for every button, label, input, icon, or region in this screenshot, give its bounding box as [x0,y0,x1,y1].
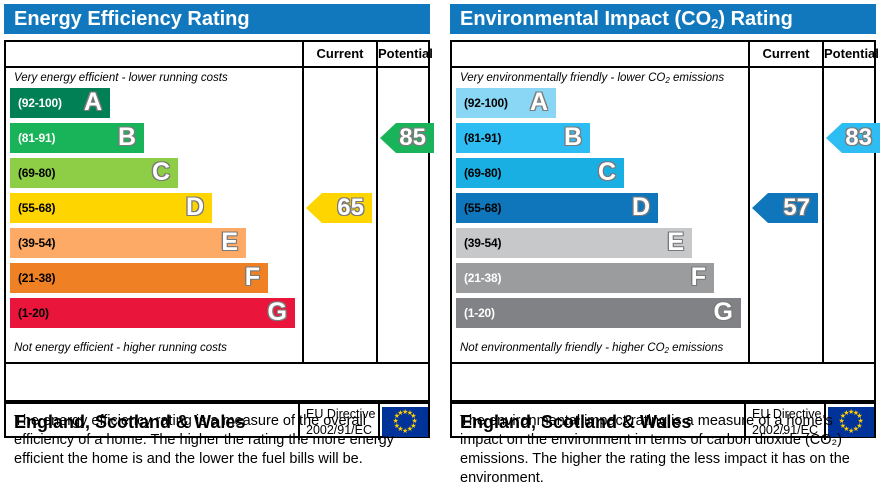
environmental-impact-grid: Current Potential Very environmentally f… [450,40,876,402]
energy-bottom-caption: Not energy efficient - higher running co… [14,338,300,358]
footer-divider-line [452,362,874,364]
environmental-bottom-caption: Not environmentally friendly - higher CO… [460,338,746,358]
potential-column-divider [822,42,824,362]
energy-top-caption: Very energy efficient - lower running co… [14,68,300,88]
band-letter-g: G [714,300,733,325]
band-range-f: (21-38) [464,271,501,285]
band-range-e: (39-54) [464,236,501,250]
env-bottom-caption-prefix: Not environmentally friendly - higher CO [460,342,665,354]
environmental-band-bars: (92-100)A(81-91)B(69-80)C(55-68)D(39-54)… [452,88,748,338]
band-letter-f: F [245,265,260,290]
band-row-c: (69-80)C [10,158,178,188]
band-range-g: (1-20) [464,306,495,320]
band-row-f: (21-38)F [10,263,268,293]
current-rating-arrow: 65 [306,193,372,223]
env-top-caption-sub: 2 [665,76,669,85]
band-range-b: (81-91) [18,131,55,145]
env-bottom-caption-sub: 2 [665,346,669,355]
potential-rating-arrow: 83 [826,123,880,153]
band-letter-c: C [598,160,616,185]
band-letter-d: D [632,195,650,220]
energy-efficiency-panel: Energy Efficiency Rating Current Potenti… [0,0,434,493]
band-row-b: (81-91)B [456,123,590,153]
band-letter-b: B [118,125,136,150]
column-header-potential: Potential [824,42,876,66]
band-range-d: (55-68) [464,201,501,215]
environmental-title-sub: 2 [711,16,718,31]
env-bottom-caption-suffix: emissions [669,342,723,354]
band-range-f: (21-38) [18,271,55,285]
energy-band-bars: (92-100)A(81-91)B(69-80)C(55-68)D(39-54)… [6,88,302,338]
band-row-g: (1-20)G [10,298,295,328]
potential-column-divider [376,42,378,362]
band-row-b: (81-91)B [10,123,144,153]
energy-efficiency-title: Energy Efficiency Rating [4,4,430,34]
band-row-d: (55-68)D [456,193,658,223]
band-letter-f: F [691,265,706,290]
potential-rating-arrow: 85 [380,123,434,153]
band-range-c: (69-80) [464,166,501,180]
band-range-a: (92-100) [18,96,62,110]
band-letter-e: E [667,230,684,255]
env-top-caption-suffix: emissions [670,72,724,84]
band-row-d: (55-68)D [10,193,212,223]
environmental-blurb: The environmental impact rating is a mea… [460,412,870,488]
band-row-f: (21-38)F [456,263,714,293]
env-top-caption-prefix: Very environmentally friendly - lower CO [460,72,665,84]
energy-blurb: The energy efficiency rating is a measur… [14,412,424,469]
current-column-divider [302,42,304,362]
column-header-potential: Potential [378,42,430,66]
environmental-title-prefix: Environmental Impact (CO [460,8,711,30]
environmental-impact-panel: Environmental Impact (CO2) Rating Curren… [446,0,880,493]
column-header-current: Current [304,42,376,66]
current-column-divider [748,42,750,362]
band-range-g: (1-20) [18,306,49,320]
band-range-b: (81-91) [464,131,501,145]
band-range-a: (92-100) [464,96,508,110]
energy-efficiency-title-text: Energy Efficiency Rating [14,8,250,30]
column-header-current: Current [750,42,822,66]
band-row-e: (39-54)E [456,228,692,258]
band-letter-c: C [152,160,170,185]
band-row-a: (92-100)A [10,88,110,118]
band-row-g: (1-20)G [456,298,741,328]
band-letter-b: B [564,125,582,150]
band-letter-g: G [268,300,287,325]
band-letter-a: A [530,90,548,115]
band-range-d: (55-68) [18,201,55,215]
band-row-a: (92-100)A [456,88,556,118]
current-rating-arrow: 57 [752,193,818,223]
band-range-c: (69-80) [18,166,55,180]
epc-chart-sheet: Energy Efficiency Rating Current Potenti… [0,0,880,493]
environmental-title-suffix: ) Rating [718,8,792,30]
band-range-e: (39-54) [18,236,55,250]
band-row-e: (39-54)E [10,228,246,258]
band-letter-a: A [84,90,102,115]
environmental-top-caption: Very environmentally friendly - lower CO… [460,68,746,88]
environmental-impact-title: Environmental Impact (CO2) Rating [450,4,876,34]
band-letter-e: E [221,230,238,255]
footer-divider-line [6,362,428,364]
band-letter-d: D [186,195,204,220]
band-row-c: (69-80)C [456,158,624,188]
energy-efficiency-grid: Current Potential Very energy efficient … [4,40,430,402]
